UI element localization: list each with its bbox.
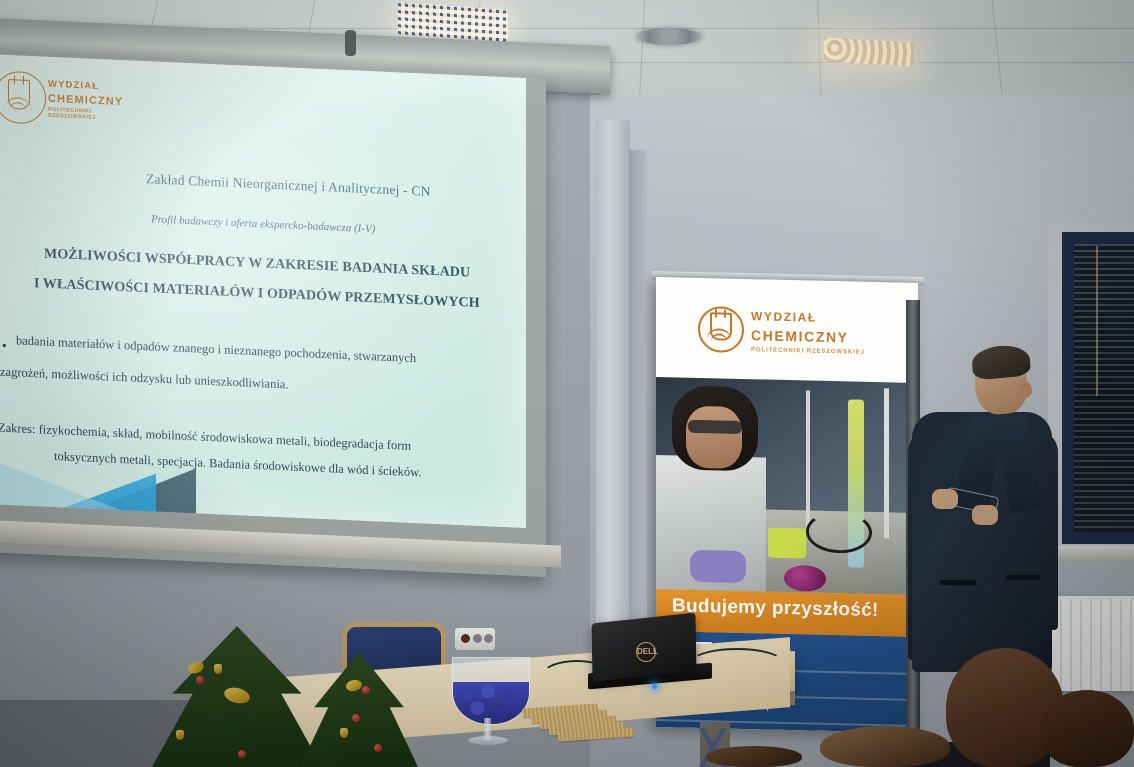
slide-bullet-line1: badania materiałów i odpadów znanego i n…	[16, 333, 416, 366]
banner-logo-line3: POLITECHNIKI RZESZOWSKIEJ	[751, 347, 865, 356]
audience-head	[706, 746, 802, 767]
slide-heading-line2: I WŁAŚCIWOŚCI MATERIAŁÓW I ODPADÓW PRZEM…	[34, 276, 480, 312]
power-socket[interactable]	[455, 628, 495, 650]
projected-slide: WYDZIAŁ CHEMICZNY POLITECHNIKI RZESZOWSK…	[0, 54, 526, 528]
audience-head	[1040, 690, 1134, 767]
gold-bell	[214, 664, 222, 674]
slide-heading-line1: MOŻLIWOŚCI WSPÓŁPRACY W ZAKRESIE BADANIA…	[44, 247, 470, 282]
slide-logo-line2: CHEMICZNY	[48, 93, 123, 108]
blind-cord[interactable]	[1096, 246, 1098, 396]
slide-logo-line1: WYDZIAŁ	[48, 79, 99, 92]
red-bauble	[352, 714, 360, 722]
lab-stand	[806, 390, 810, 530]
banner-lab-photo	[656, 377, 918, 595]
slide-bullet-marker: •	[2, 338, 7, 353]
glass-bowl[interactable]	[452, 657, 530, 725]
slide-logo-line3: POLITECHNIKI RZESZOWSKIEJ	[48, 107, 116, 122]
presenter-pocket-left	[940, 580, 976, 585]
presenter-pocket-right	[1006, 575, 1040, 580]
projector-mount-icon	[345, 30, 356, 56]
red-bauble	[374, 744, 382, 752]
radiator	[1052, 596, 1134, 691]
lab-purple-sample	[784, 565, 826, 592]
blue-candies	[453, 682, 529, 724]
christmas-tree-2	[300, 652, 418, 767]
gold-bell	[176, 730, 184, 740]
lab-glove	[690, 550, 746, 583]
ceiling-light-panel-2	[824, 38, 914, 67]
audience-head	[820, 726, 950, 767]
lab-researcher-face	[686, 406, 742, 469]
slide-title: Zakład Chemii Nieorganicznej i Analitycz…	[146, 171, 431, 200]
presenter-ear	[1020, 382, 1032, 398]
structural-column	[596, 120, 630, 680]
status-led	[652, 684, 657, 689]
cable-2	[690, 648, 784, 678]
slide-logo: WYDZIAŁ CHEMICZNY POLITECHNIKI RZESZOWSK…	[0, 68, 116, 133]
window-blinds[interactable]	[1074, 244, 1134, 532]
gold-bell	[340, 728, 348, 738]
red-bauble	[238, 750, 246, 758]
red-bauble	[196, 676, 204, 684]
lab-stand-2	[884, 388, 889, 538]
laptop-brand-logo: DELL	[636, 642, 656, 662]
lecture-hall-photo: WYDZIAŁ CHEMICZNY POLITECHNIKI RZESZOWSK…	[0, 0, 1134, 767]
cable	[540, 660, 614, 694]
structural-column-edge	[629, 150, 647, 670]
slide-bullet-line2: zagrożeń, możliwości ich odzysku lub uni…	[0, 365, 288, 393]
banner-logo-line1: WYDZIAŁ	[751, 309, 817, 324]
lab-green-container	[768, 528, 806, 559]
red-bauble	[362, 686, 370, 694]
glass-foot	[468, 736, 508, 745]
safety-goggles-icon	[688, 420, 742, 434]
christmas-tree-1	[152, 626, 322, 767]
banner-logo-line2: CHEMICZNY	[751, 327, 849, 345]
banner-header: WYDZIAŁ CHEMICZNY POLITECHNIKI RZESZOWSK…	[656, 277, 918, 383]
slide-subtitle: Profil badawczy i oferta ekspercko-badaw…	[151, 213, 375, 235]
ceiling-vent-icon	[636, 28, 702, 45]
banner-slogan: Budujemy przyszłość!	[672, 595, 879, 622]
